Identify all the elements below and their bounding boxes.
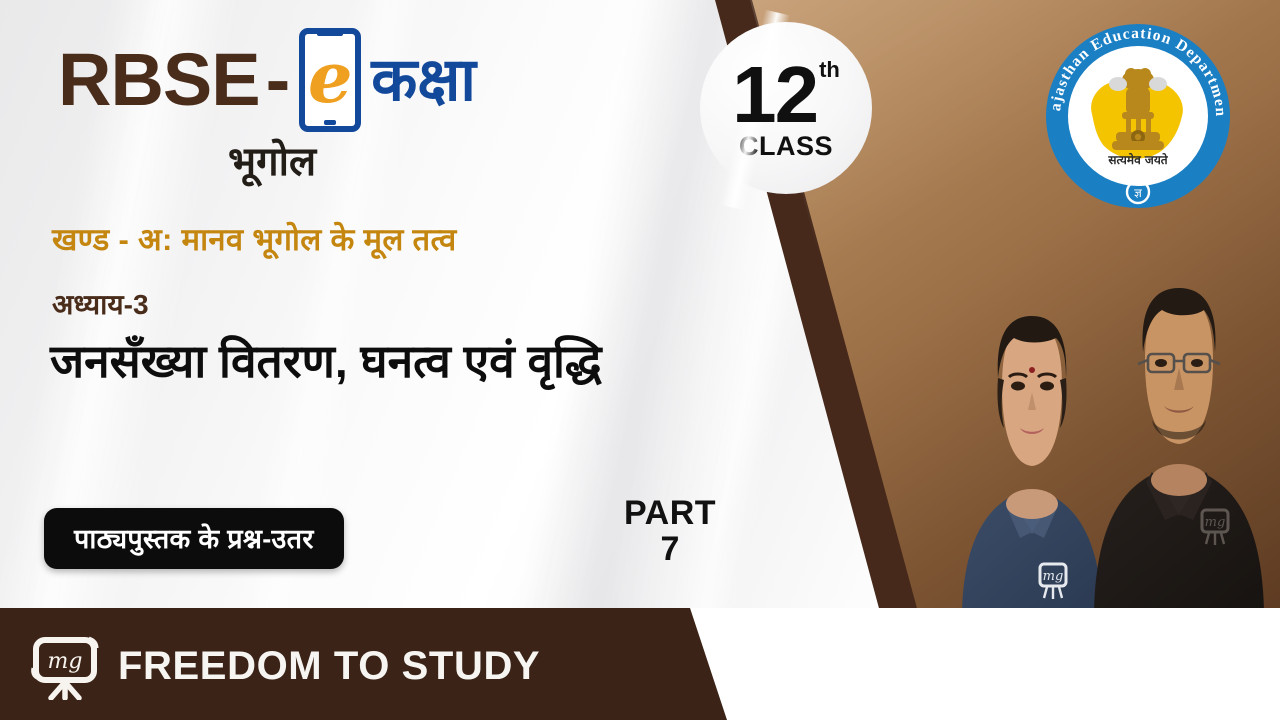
presenter-male-photo: mg bbox=[1090, 260, 1268, 612]
class-ordinal-suffix: th bbox=[819, 59, 840, 81]
subject-label: भूगोल bbox=[228, 132, 316, 187]
part-indicator: PART 7 bbox=[624, 496, 716, 567]
svg-text:mg: mg bbox=[48, 649, 83, 674]
footer-band: mg FREEDOM TO STUDY bbox=[0, 608, 1280, 720]
qa-badge-label: पाठ्यपुस्तक के प्रश्न-उतर bbox=[74, 524, 314, 554]
class-badge: 12 th CLASS bbox=[700, 22, 872, 194]
svg-text:ज्ञ: ज्ञ bbox=[1134, 186, 1142, 200]
svg-text:mg: mg bbox=[1043, 569, 1064, 584]
seal-motto: सत्यमेव जयते bbox=[1107, 153, 1168, 167]
part-label: PART bbox=[624, 496, 716, 532]
thumbnail-canvas: mg mg bbox=[0, 0, 1280, 720]
brand-kaksha-text: कक्षा bbox=[371, 50, 476, 110]
smartphone-icon: e bbox=[299, 28, 361, 132]
brand-rbse-text: RBSE bbox=[58, 43, 260, 117]
rajasthan-education-department-seal: Rajasthan Education Department सत्यमेव ज… bbox=[1040, 18, 1236, 214]
brand-dash: - bbox=[266, 43, 290, 117]
presenter-photos: mg mg bbox=[940, 246, 1270, 612]
svg-text:mg: mg bbox=[1205, 515, 1226, 530]
brand-e-letter: e bbox=[308, 43, 353, 113]
class-number: 12 bbox=[732, 55, 817, 135]
brand-headline: RBSE - e कक्षा bbox=[58, 28, 476, 132]
footer-tagline: FREEDOM TO STUDY bbox=[118, 644, 540, 689]
mg-blackboard-icon: mg bbox=[29, 632, 103, 700]
class-number-wrap: 12 th bbox=[732, 55, 840, 135]
qa-badge: पाठ्यपुस्तक के प्रश्न-उतर bbox=[44, 508, 344, 569]
part-number: 7 bbox=[624, 532, 716, 568]
lesson-title: जनसँख्या वितरण, घनत्व एवं वृद्धि bbox=[50, 332, 670, 391]
chapter-label: अध्याय-3 bbox=[52, 285, 149, 323]
section-title: खण्ड - अ: मानव भूगोल के मूल तत्व bbox=[52, 218, 457, 260]
